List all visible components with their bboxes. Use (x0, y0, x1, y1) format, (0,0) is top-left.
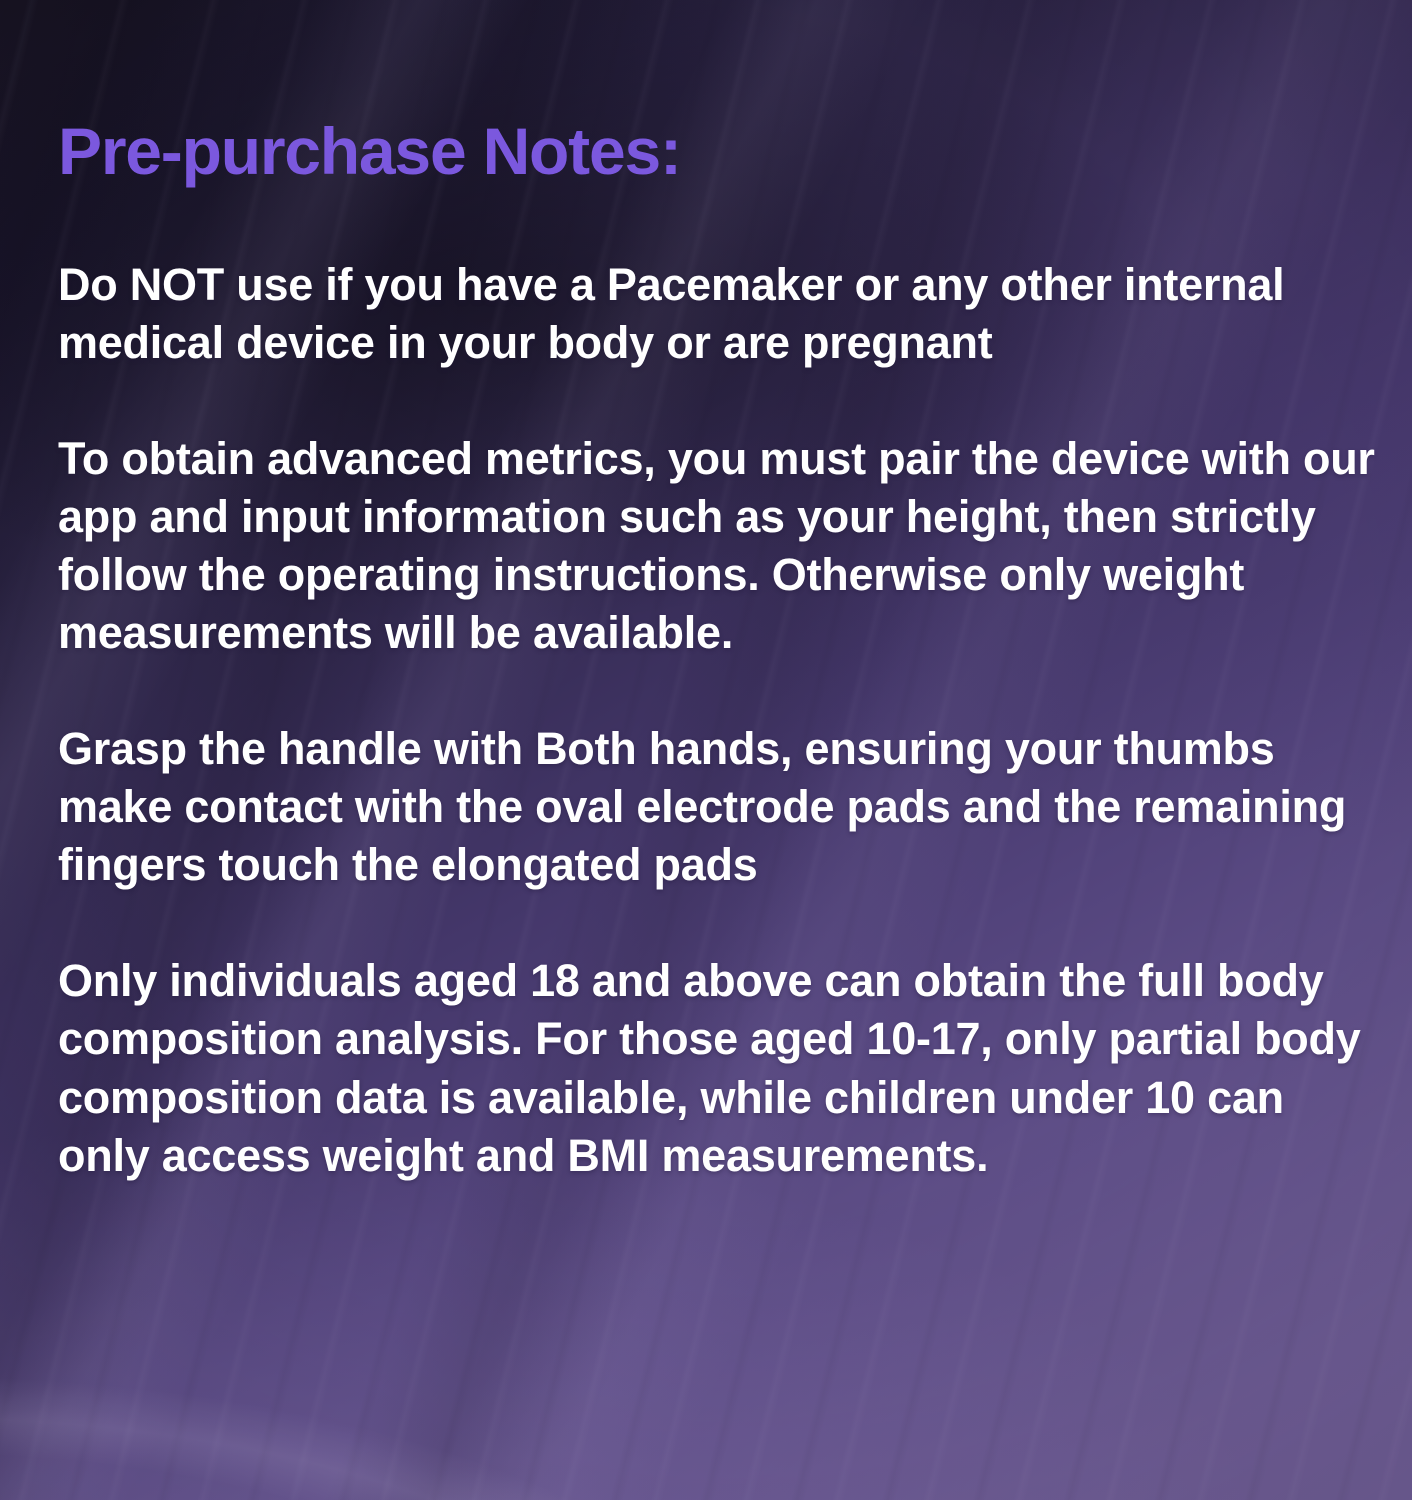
page-title: Pre-purchase Notes: (58, 118, 1376, 184)
note-handle-grip: Grasp the handle with Both hands, ensuri… (58, 720, 1376, 894)
note-age-restrictions: Only individuals aged 18 and above can o… (58, 952, 1376, 1184)
pre-purchase-notes-card: Pre-purchase Notes: Do NOT use if you ha… (0, 0, 1412, 1500)
notes-content: Pre-purchase Notes: Do NOT use if you ha… (0, 0, 1412, 1185)
note-app-pairing: To obtain advanced metrics, you must pai… (58, 430, 1376, 662)
note-pacemaker-warning: Do NOT use if you have a Pacemaker or an… (58, 256, 1376, 372)
